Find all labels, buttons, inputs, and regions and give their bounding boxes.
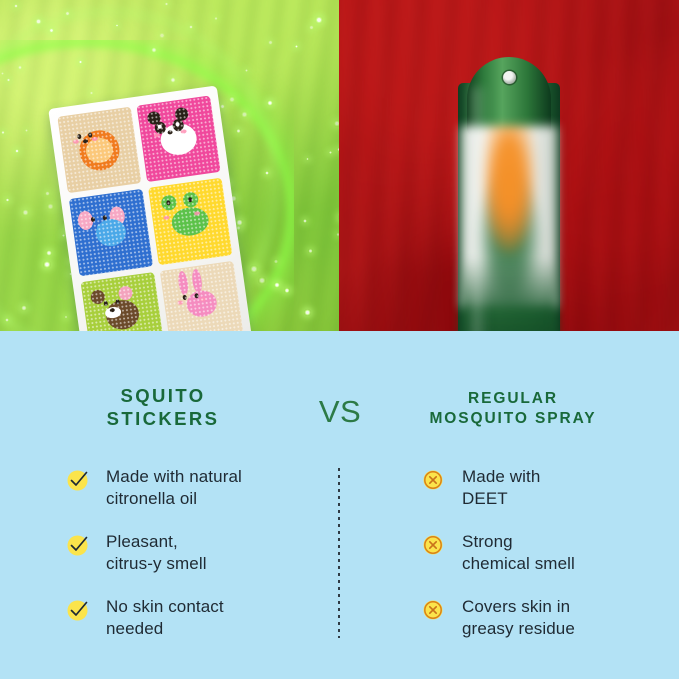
check-icon [66,533,90,557]
list-item: No skin contact needed [66,596,316,639]
list-item-label: Made with natural citronella oil [106,466,242,509]
list-item-label: Made with DEET [462,466,540,509]
list-item: Made with natural citronella oil [66,466,316,509]
list-item-label: Covers skin in greasy residue [462,596,575,639]
list-item: Covers skin in greasy residue [422,596,672,639]
list-item: Strong chemical smell [422,531,672,574]
left-column-title: SQUITO STICKERS [43,384,283,430]
cross-icon [422,533,446,557]
column-divider [338,468,340,638]
list-item: Pleasant, citrus-y smell [66,531,316,574]
list-item-label: Pleasant, citrus-y smell [106,531,207,574]
photo-band [0,0,679,331]
cross-icon [422,468,446,492]
sticker-elephant [69,189,153,276]
spray-can [458,57,560,363]
list-item-label: No skin contact needed [106,596,224,639]
check-icon [66,468,90,492]
right-title-line-1: REGULAR [388,389,638,409]
left-title-line-1: SQUITO [43,384,283,407]
sticker-frog [148,178,232,265]
spray-nozzle-icon [503,71,516,84]
left-title-line-2: STICKERS [43,407,283,430]
list-item-label: Strong chemical smell [462,531,575,574]
vs-label: VS [296,394,384,430]
cross-icon [422,598,446,622]
sticker-bunny [160,261,244,331]
spray-can-highlight [472,87,488,342]
sticker-bear [81,272,165,331]
list-item: Made with DEET [422,466,672,509]
right-title-line-2: MOSQUITO SPRAY [388,409,638,429]
comparison-infographic: SQUITO STICKERS VS REGULAR MOSQUITO SPRA… [0,0,679,679]
check-icon [66,598,90,622]
right-column-title: REGULAR MOSQUITO SPRAY [388,389,638,429]
sticker-panda [137,96,221,183]
left-product-photo [0,0,339,331]
comparison-section: SQUITO STICKERS VS REGULAR MOSQUITO SPRA… [0,331,679,679]
sticker-lion [57,107,141,194]
right-drawback-list: Made with DEET Strong chemical smell [422,466,672,661]
left-benefit-list: Made with natural citronella oil Pleasan… [66,466,316,661]
